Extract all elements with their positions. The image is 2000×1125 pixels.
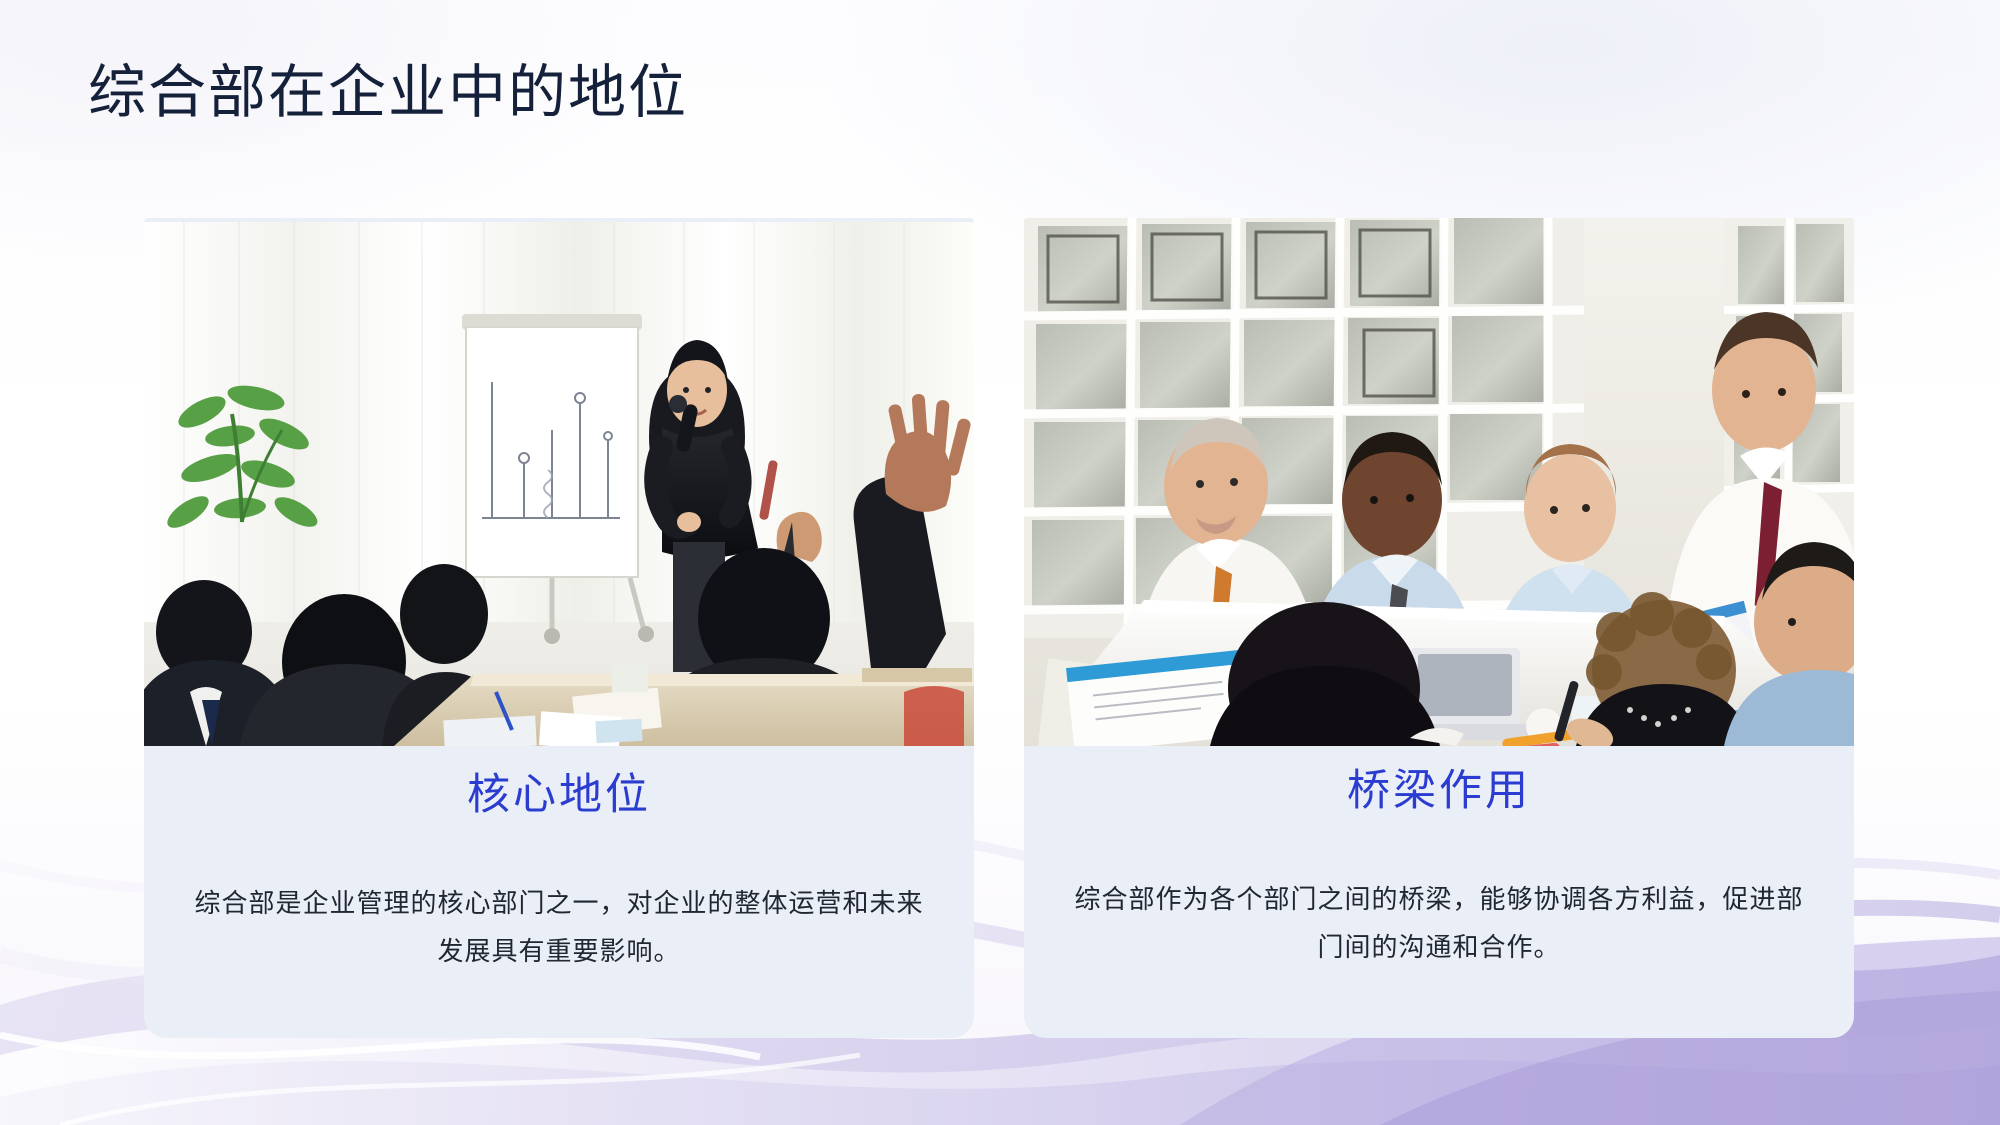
card-body-bridge-role: 桥梁作用 综合部作为各个部门之间的桥梁，能够协调各方利益，促进部门间的沟通和合作… (1024, 766, 1854, 972)
photo-presentation-meeting-illustration (144, 222, 974, 746)
card-grid: 核心地位 综合部是企业管理的核心部门之一，对企业的整体运营和未来发展具有重要影响… (144, 218, 1854, 1038)
card-text-bridge-role: 综合部作为各个部门之间的桥梁，能够协调各方利益，促进部门间的沟通和合作。 (1062, 876, 1816, 972)
photo-presentation-meeting (144, 222, 974, 746)
page-title: 综合部在企业中的地位 (88, 58, 688, 128)
card-body-core-position: 核心地位 综合部是企业管理的核心部门之一，对企业的整体运营和未来发展具有重要影响… (144, 770, 974, 976)
photo-boardroom-discussion-illustration (1024, 218, 1854, 746)
card-core-position[interactable]: 核心地位 综合部是企业管理的核心部门之一，对企业的整体运营和未来发展具有重要影响… (144, 218, 974, 1038)
slide: 综合部在企业中的地位 (0, 0, 2000, 1125)
card-heading-bridge-role: 桥梁作用 (1062, 766, 1816, 818)
window-wall (1024, 218, 1584, 638)
card-bridge-role[interactable]: 桥梁作用 综合部作为各个部门之间的桥梁，能够协调各方利益，促进部门间的沟通和合作… (1024, 218, 1854, 1038)
card-text-core-position: 综合部是企业管理的核心部门之一，对企业的整体运营和未来发展具有重要影响。 (182, 880, 936, 976)
photo-boardroom-discussion (1024, 218, 1854, 746)
table (394, 664, 974, 746)
card-heading-core-position: 核心地位 (182, 770, 936, 822)
